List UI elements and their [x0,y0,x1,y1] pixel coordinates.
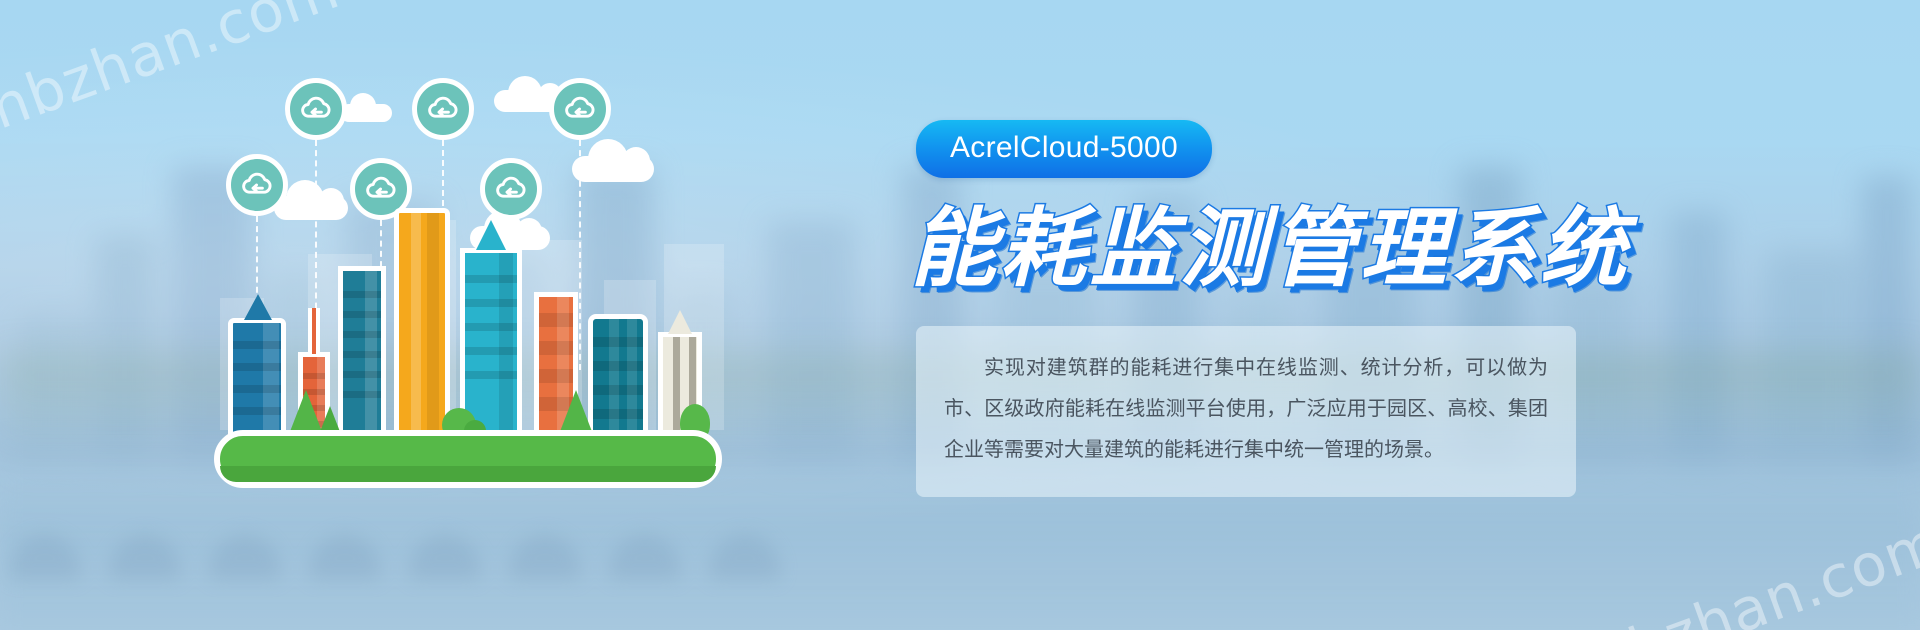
building-navy-spire-roof [244,294,272,320]
banner-root: hbzhan.com hbzhan.com [0,0,1920,630]
city-ground-base [214,430,722,488]
building-teal-block [588,314,648,444]
product-badge[interactable]: AcrelCloud-5000 [916,120,1212,178]
building-yellow-tall [394,208,450,444]
building-orange-tower-antenna [308,308,320,354]
product-description: 实现对建筑群的能耗进行集中在线监测、统计分析，可以做为市、区级政府能耗在线监测平… [916,326,1576,497]
cloud-sync-node-3[interactable] [412,78,474,140]
cloud-sync-node-6[interactable] [549,78,611,140]
banner-content: AcrelCloud-5000 能耗监测管理系统 实现对建筑群的能耗进行集中在线… [916,120,1596,497]
building-navy-spire [228,318,286,444]
building-cream-spire-roof [668,310,692,334]
building-cyan-peak-roof [476,220,506,250]
cloud-sync-icon [549,78,611,140]
page-title: 能耗监测管理系统 [910,206,1596,292]
building-teal-tall [338,266,386,444]
cloud-sync-node-2[interactable] [285,78,347,140]
city-skyline-group [212,188,732,488]
cloud-sync-icon [285,78,347,140]
decorative-cloud-1 [340,104,392,122]
smart-city-illustration [212,48,732,488]
ground-shadow [220,466,716,482]
decorative-cloud-4 [572,156,654,182]
cloud-sync-icon [412,78,474,140]
